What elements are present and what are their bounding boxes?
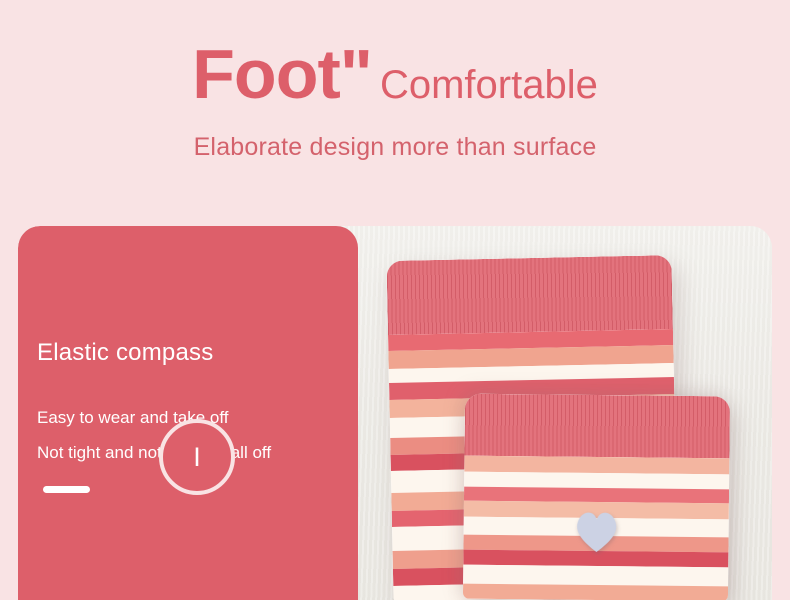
promo-banner: Foot"Comfortable Elaborate design more t… — [0, 0, 790, 600]
sock-front-cuff — [464, 394, 730, 459]
feature-card: Elastic compass Easy to wear and take of… — [18, 226, 772, 600]
panel-title: Elastic compass — [37, 339, 213, 367]
info-panel: Elastic compass Easy to wear and take of… — [18, 226, 358, 600]
title-light: Comfortable — [380, 63, 598, 107]
sock-back-cuff — [386, 255, 672, 335]
step-badge: I — [159, 419, 235, 495]
heart-icon — [571, 508, 621, 555]
panel-line-2: Not tight and not easy to fall off — [37, 443, 271, 463]
sock-front — [463, 394, 730, 600]
title-strong: Foot" — [192, 35, 372, 113]
panel-divider-dash — [43, 486, 90, 493]
page-subtitle: Elaborate design more than surface — [0, 133, 790, 162]
page-title: Foot"Comfortable — [0, 34, 790, 114]
stripe — [463, 584, 728, 600]
header-section: Foot"Comfortable Elaborate design more t… — [0, 0, 790, 196]
